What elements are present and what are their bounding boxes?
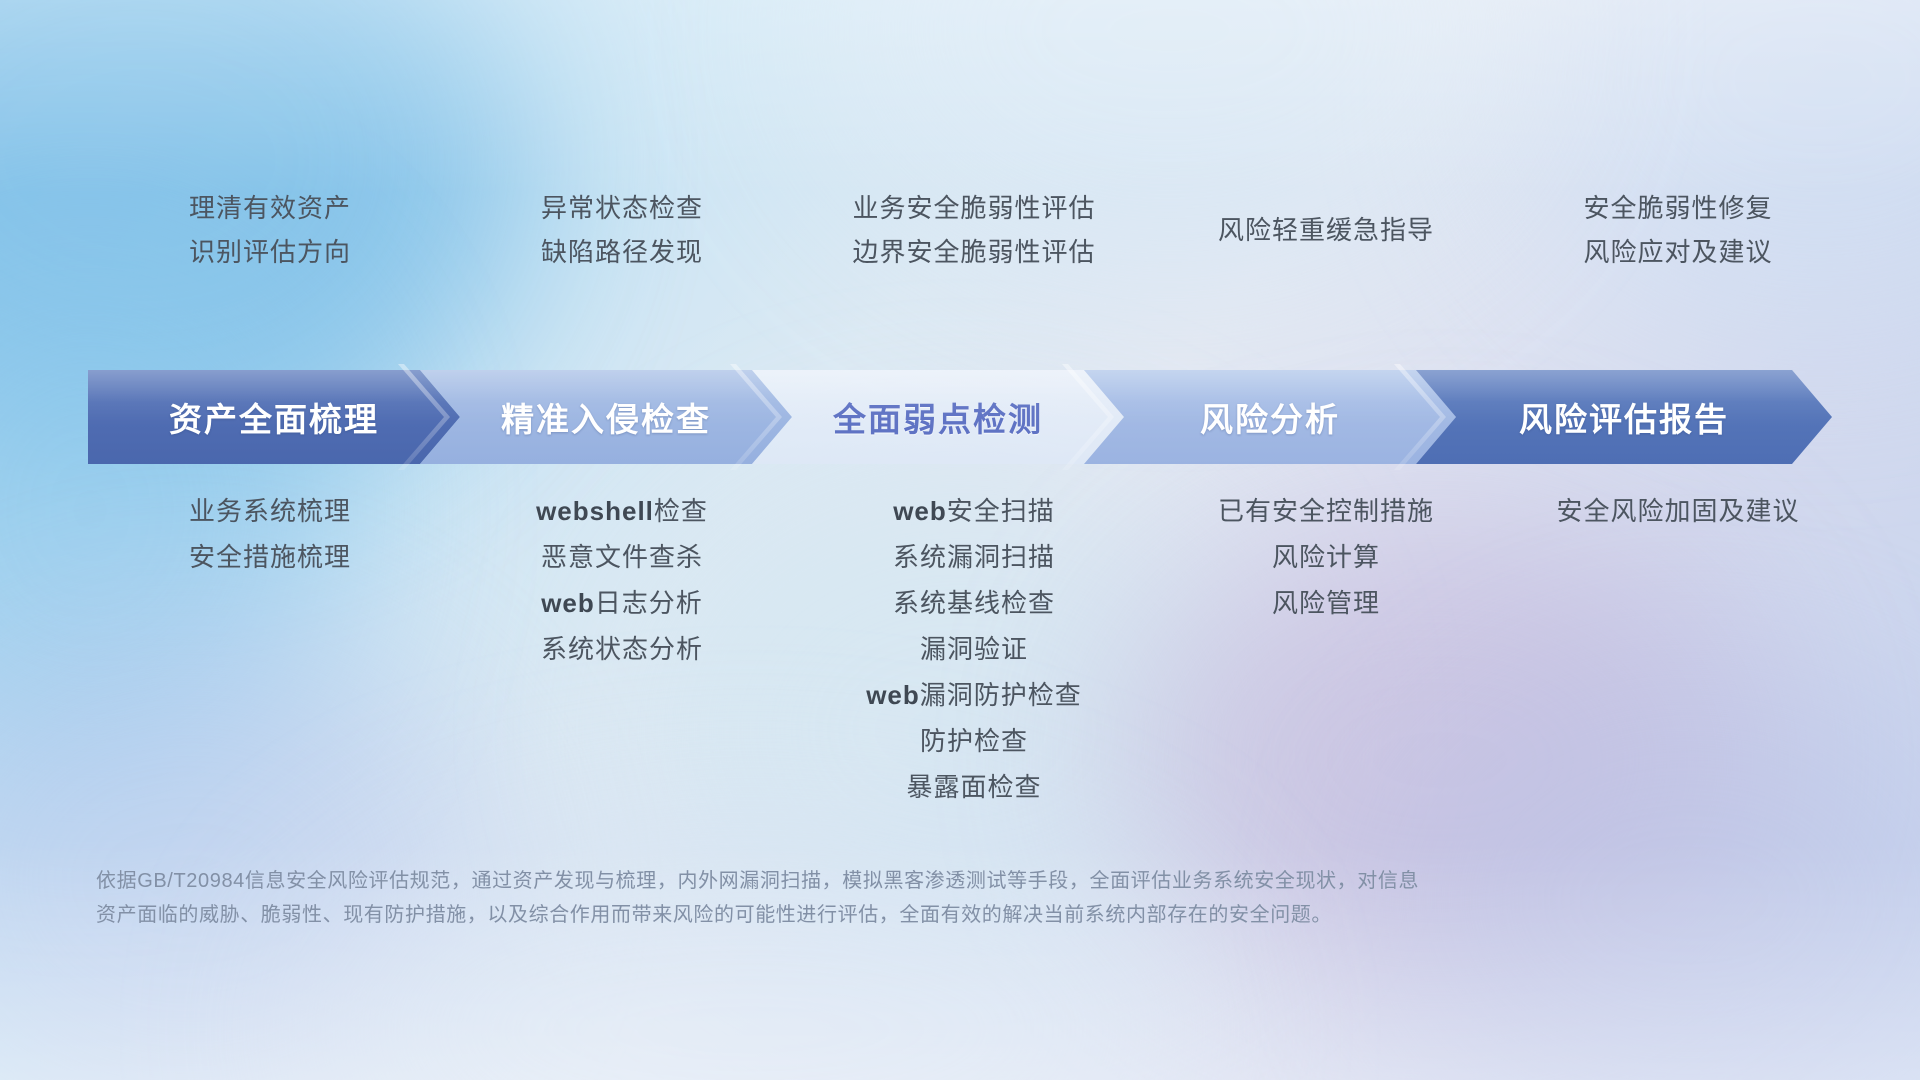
top-labels-assessment-report: 安全脆弱性修复 风险应对及建议	[1502, 186, 1854, 274]
list-item: 安全风险加固及建议	[1556, 488, 1799, 534]
top-label: 风险应对及建议	[1583, 230, 1772, 274]
list-item-text: 日志分析	[595, 588, 703, 618]
stage-chevron-intrusion-check[interactable]: 精准入侵检查	[420, 370, 792, 464]
footer-line: 依据GB/T20984信息安全风险评估规范，通过资产发现与梳理，内外网漏洞扫描，…	[96, 864, 1596, 898]
top-label: 业务安全脆弱性评估	[852, 186, 1095, 230]
list-item-text: 安全措施梳理	[189, 542, 351, 572]
stage-chevron-asset-inventory[interactable]: 资产全面梳理	[88, 370, 460, 464]
process-diagram: 理清有效资产 识别评估方向 异常状态检查 缺陷路径发现 业务安全脆弱性评估 边界…	[0, 0, 1920, 1080]
list-item: webshell检查	[536, 488, 708, 534]
bottom-list-risk-analysis: 已有安全控制措施 风险计算 风险管理	[1150, 488, 1502, 626]
list-item: web日志分析	[541, 580, 703, 626]
bottom-list-asset-inventory: 业务系统梳理 安全措施梳理	[94, 488, 446, 580]
list-item: 已有安全控制措施	[1218, 488, 1434, 534]
list-item: web安全扫描	[893, 488, 1055, 534]
bottom-list-intrusion-check: webshell检查 恶意文件查杀 web日志分析 系统状态分析	[446, 488, 798, 672]
list-item-prefix: webshell	[536, 496, 654, 526]
list-item: web漏洞防护检查	[866, 672, 1082, 718]
list-item: 业务系统梳理	[189, 488, 351, 534]
top-labels-weakness-detection: 业务安全脆弱性评估 边界安全脆弱性评估	[798, 186, 1150, 274]
list-item-text: 安全扫描	[947, 496, 1055, 526]
list-item-text: 检查	[654, 496, 708, 526]
list-item: 恶意文件查杀	[541, 534, 703, 580]
list-item-text: 风险管理	[1272, 588, 1380, 618]
list-item-text: 恶意文件查杀	[541, 542, 703, 572]
list-item-text: 已有安全控制措施	[1218, 496, 1434, 526]
list-item-text: 业务系统梳理	[189, 496, 351, 526]
bottom-list-assessment-report: 安全风险加固及建议	[1502, 488, 1854, 534]
bottom-lists-row: 业务系统梳理 安全措施梳理 webshell检查 恶意文件查杀 web日志分析 …	[0, 488, 1920, 810]
bottom-list-weakness-detection: web安全扫描 系统漏洞扫描 系统基线检查 漏洞验证 web漏洞防护检查 防护检…	[798, 488, 1150, 810]
list-item-text: 漏洞防护检查	[920, 680, 1082, 710]
list-item: 防护检查	[920, 718, 1028, 764]
top-label: 安全脆弱性修复	[1583, 186, 1772, 230]
list-item-prefix: web	[541, 588, 595, 618]
list-item-prefix: web	[893, 496, 947, 526]
top-label: 识别评估方向	[189, 230, 351, 274]
list-item-text: 漏洞验证	[920, 634, 1028, 664]
list-item: 系统漏洞扫描	[893, 534, 1055, 580]
list-item: 系统状态分析	[541, 626, 703, 672]
list-item: 系统基线检查	[893, 580, 1055, 626]
footer-line: 资产面临的威胁、脆弱性、现有防护措施，以及综合作用而带来风险的可能性进行评估，全…	[96, 898, 1596, 932]
list-item-text: 暴露面检查	[906, 772, 1041, 802]
stage-label: 全面弱点检测	[833, 393, 1043, 441]
list-item: 漏洞验证	[920, 626, 1028, 672]
list-item: 风险计算	[1272, 534, 1380, 580]
list-item: 风险管理	[1272, 580, 1380, 626]
top-labels-risk-analysis: 风险轻重缓急指导	[1150, 186, 1502, 274]
list-item: 安全措施梳理	[189, 534, 351, 580]
top-labels-intrusion-check: 异常状态检查 缺陷路径发现	[446, 186, 798, 274]
stage-chevron-risk-analysis[interactable]: 风险分析	[1084, 370, 1456, 464]
list-item: 暴露面检查	[906, 764, 1041, 810]
top-label: 理清有效资产	[189, 186, 351, 230]
top-label: 边界安全脆弱性评估	[852, 230, 1095, 274]
list-item-text: 系统漏洞扫描	[893, 542, 1055, 572]
list-item-text: 系统基线检查	[893, 588, 1055, 618]
stage-label: 精准入侵检查	[501, 393, 711, 441]
list-item-prefix: web	[866, 680, 920, 710]
top-label: 风险轻重缓急指导	[1218, 186, 1434, 274]
top-label: 缺陷路径发现	[541, 230, 703, 274]
list-item-text: 安全风险加固及建议	[1556, 496, 1799, 526]
list-item-text: 系统状态分析	[541, 634, 703, 664]
stage-chevron-banner: 资产全面梳理 精准入侵检查 全面弱点检测 风险分析 风险评估报告	[88, 370, 1832, 464]
list-item-text: 防护检查	[920, 726, 1028, 756]
stage-chevron-weakness-detection[interactable]: 全面弱点检测	[752, 370, 1124, 464]
stage-label: 风险评估报告	[1519, 393, 1729, 441]
stage-chevron-assessment-report[interactable]: 风险评估报告	[1416, 370, 1832, 464]
top-label: 异常状态检查	[541, 186, 703, 230]
top-labels-asset-inventory: 理清有效资产 识别评估方向	[94, 186, 446, 274]
top-labels-row: 理清有效资产 识别评估方向 异常状态检查 缺陷路径发现 业务安全脆弱性评估 边界…	[0, 186, 1920, 274]
stage-label: 风险分析	[1200, 393, 1340, 441]
footer-description: 依据GB/T20984信息安全风险评估规范，通过资产发现与梳理，内外网漏洞扫描，…	[96, 864, 1596, 932]
stage-label: 资产全面梳理	[169, 393, 379, 441]
list-item-text: 风险计算	[1272, 542, 1380, 572]
